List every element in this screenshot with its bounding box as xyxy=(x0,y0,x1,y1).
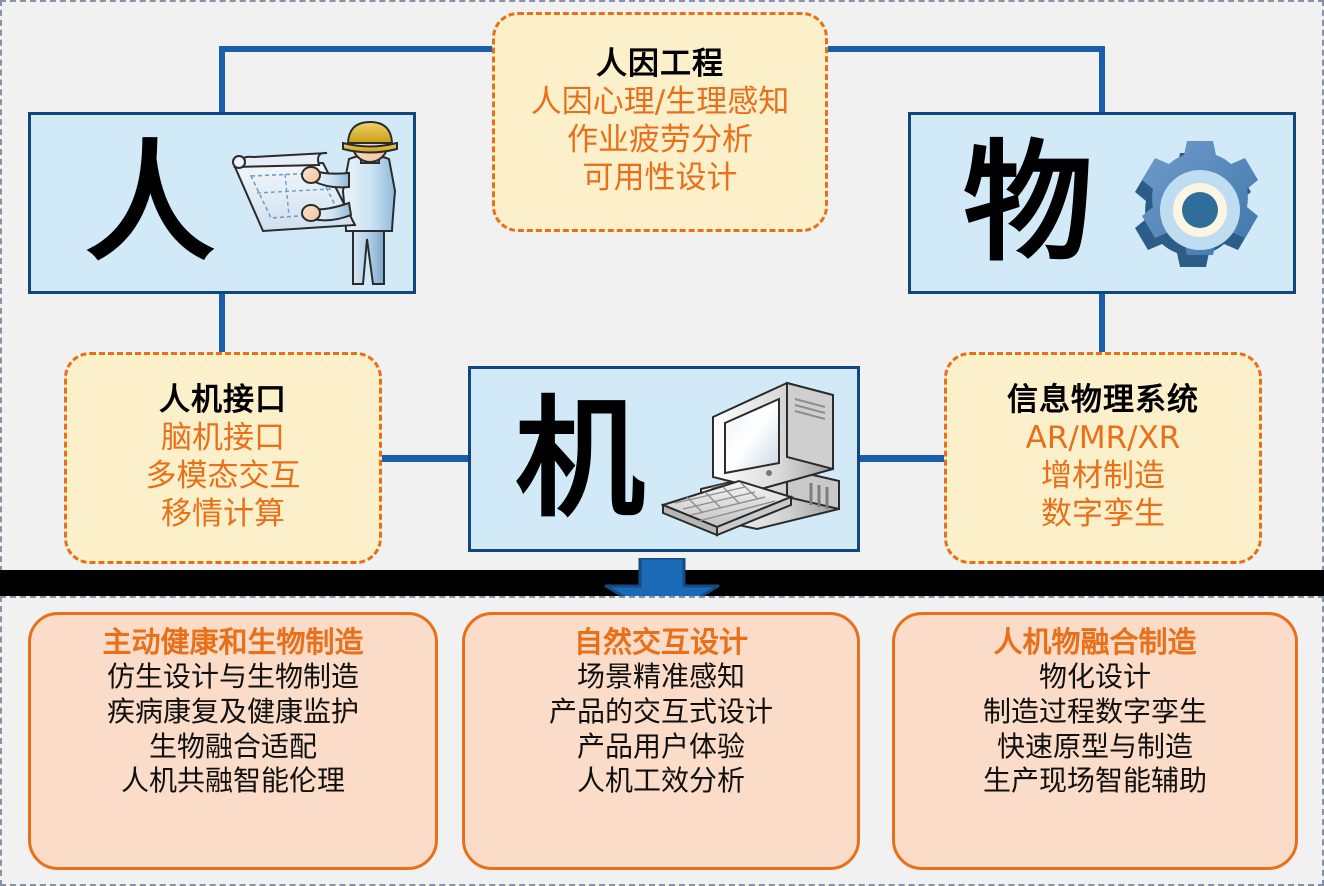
connector-machine-to-cps xyxy=(860,455,950,462)
outcome-box-human-machine-thing-fusion-manufacturing[interactable]: 人机物融合制造 物化设计 制造过程数字孪生 快速原型与制造 生产现场智能辅助 xyxy=(892,612,1298,870)
entity-box-thing[interactable]: 物 xyxy=(908,112,1296,294)
bridge-line: 作业疲劳分析 xyxy=(567,122,753,160)
engineer-blueprint-icon xyxy=(227,121,417,297)
entity-box-person[interactable]: 人 xyxy=(28,112,416,294)
outcome-box-natural-interaction-design[interactable]: 自然交互设计 场景精准感知 产品的交互式设计 产品用户体验 人机工效分析 xyxy=(462,612,860,870)
outcome-title-natural-interaction-design: 自然交互设计 xyxy=(574,625,748,659)
outcome-line: 产品的交互式设计 xyxy=(549,695,773,730)
outcome-line: 疾病康复及健康监护 xyxy=(107,695,359,730)
outcome-line: 产品用户体验 xyxy=(577,730,745,765)
outcome-line: 制造过程数字孪生 xyxy=(983,695,1207,730)
bridge-line: 人因心理/生理感知 xyxy=(531,84,789,122)
connector-thing-to-human-factors-horizontal xyxy=(815,46,1105,52)
diagram-canvas: 人 xyxy=(0,0,1324,886)
outcome-box-active-health-bio-manufacturing[interactable]: 主动健康和生物制造 仿生设计与生物制造 疾病康复及健康监护 生物融合适配 人机共… xyxy=(28,612,438,870)
entity-label-thing: 物 xyxy=(963,138,1093,268)
bridge-box-cyber-physical-system[interactable]: 信息物理系统 AR/MR/XR 增材制造 数字孪生 xyxy=(944,352,1262,564)
outcome-line: 生物融合适配 xyxy=(149,730,317,765)
outcome-title-human-machine-thing-fusion-manufacturing: 人机物融合制造 xyxy=(993,625,1196,659)
bridge-box-human-factors[interactable]: 人因工程 人因心理/生理感知 作业疲劳分析 可用性设计 xyxy=(492,12,828,232)
desktop-computer-icon xyxy=(661,377,851,551)
connector-person-to-hmi xyxy=(219,292,225,356)
outcome-line: 仿生设计与生物制造 xyxy=(107,660,359,695)
connector-person-to-human-factors-horizontal xyxy=(219,46,509,52)
outcome-line: 人机工效分析 xyxy=(577,764,745,799)
gear-icon xyxy=(1113,129,1285,291)
bridge-line: 增材制造 xyxy=(1041,458,1165,496)
bridge-line: 可用性设计 xyxy=(583,160,738,198)
bridge-title-cyber-physical-system: 信息物理系统 xyxy=(1007,383,1199,418)
connector-person-to-human-factors-vertical xyxy=(219,46,225,114)
outcome-line: 场景精准感知 xyxy=(577,660,745,695)
entity-box-machine[interactable]: 机 xyxy=(468,366,860,552)
outcome-title-active-health-bio-manufacturing: 主动健康和生物制造 xyxy=(102,625,363,659)
outcome-line: 人机共融智能伦理 xyxy=(121,764,345,799)
outcome-line: 物化设计 xyxy=(1039,660,1151,695)
outcome-line: 生产现场智能辅助 xyxy=(983,764,1207,799)
bridge-title-human-machine-interface: 人机接口 xyxy=(159,383,287,418)
bridge-line: 脑机接口 xyxy=(161,420,285,458)
connector-thing-to-cps xyxy=(1099,292,1105,356)
outcome-line: 快速原型与制造 xyxy=(997,730,1193,765)
bridge-line: 多模态交互 xyxy=(146,458,301,496)
bridge-line: AR/MR/XR xyxy=(1026,420,1181,458)
bridge-box-human-machine-interface[interactable]: 人机接口 脑机接口 多模态交互 移情计算 xyxy=(64,352,382,564)
connector-hmi-to-machine xyxy=(380,455,468,462)
bridge-title-human-factors: 人因工程 xyxy=(596,47,724,82)
entity-label-person: 人 xyxy=(85,138,215,268)
entity-label-machine: 机 xyxy=(515,394,645,524)
bridge-line: 移情计算 xyxy=(161,496,285,534)
bridge-line: 数字孪生 xyxy=(1041,496,1165,534)
connector-thing-to-human-factors-vertical xyxy=(1099,46,1105,114)
